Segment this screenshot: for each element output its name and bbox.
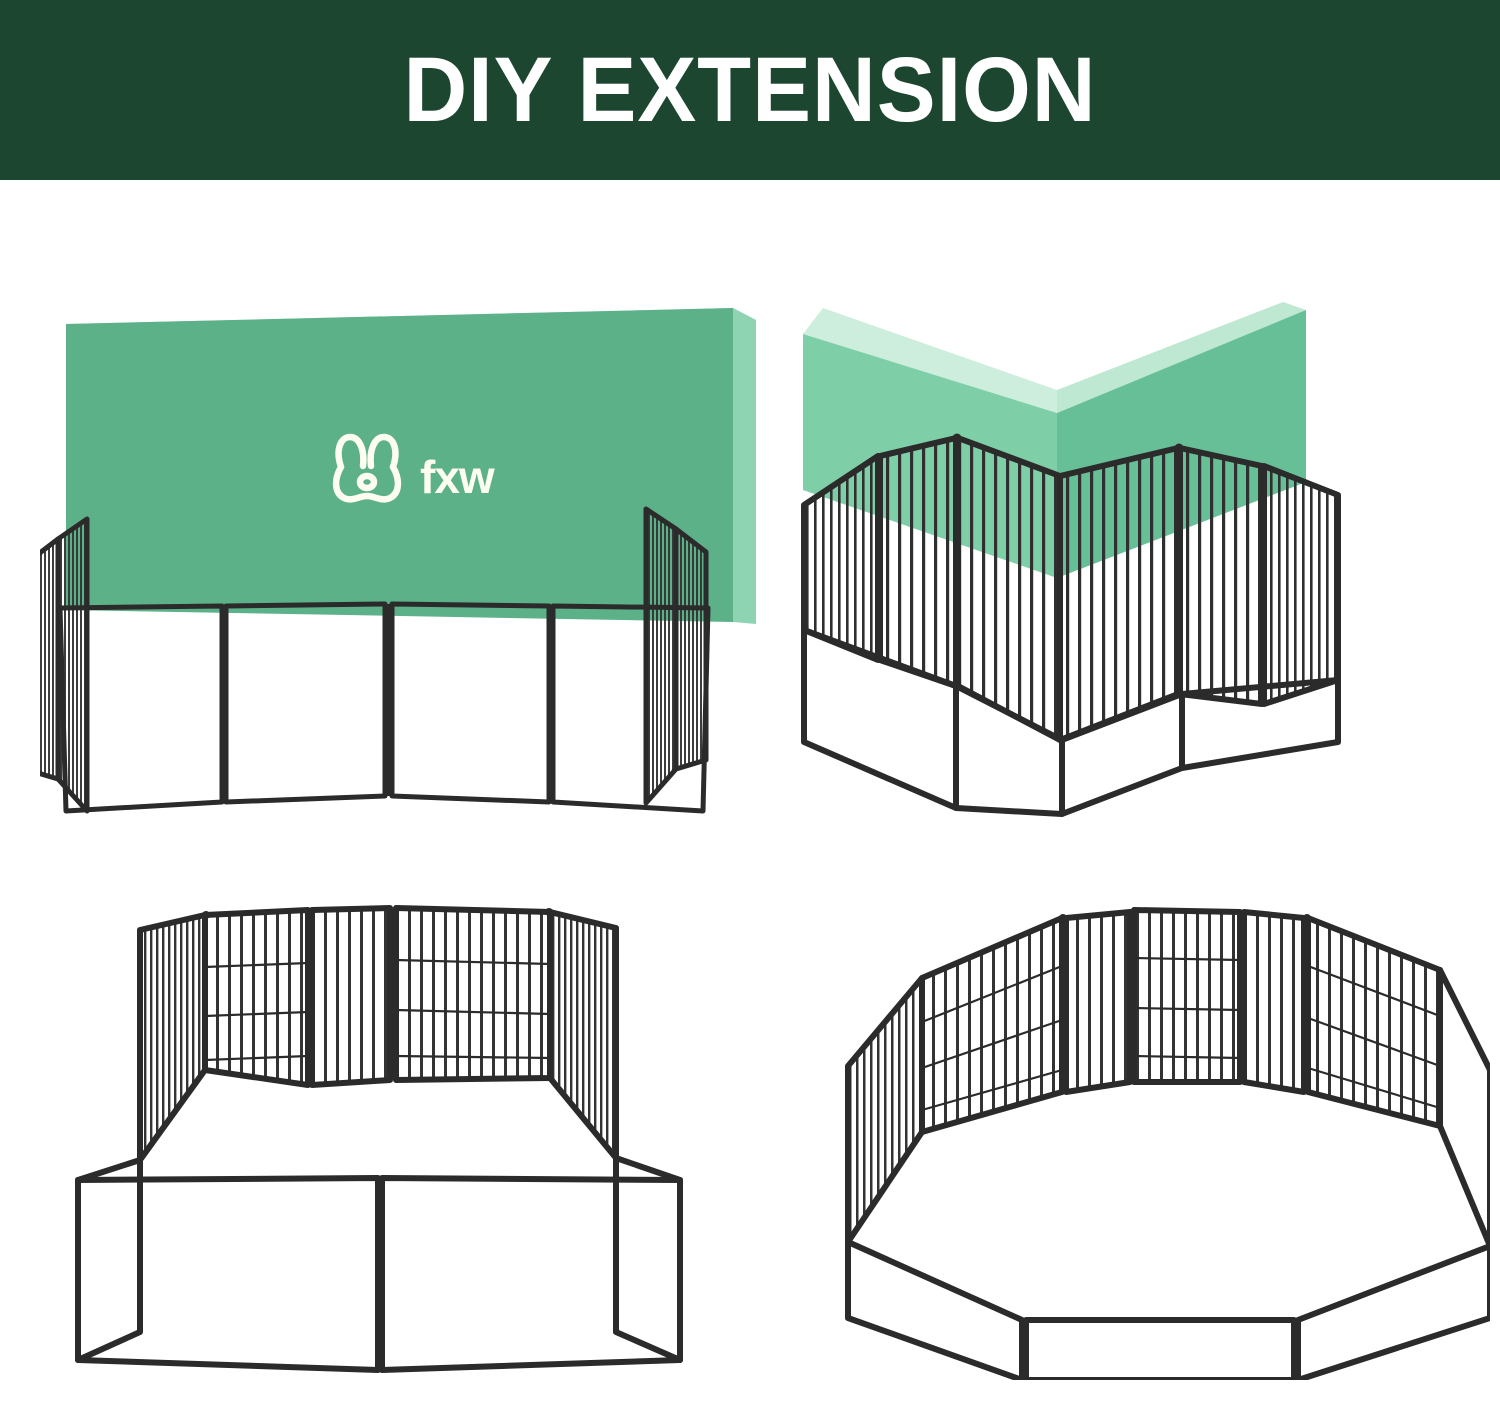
pen-oct-front-frames [848,1242,1490,1380]
pen-rect-side-panel-left [140,915,205,1160]
fence-hinge-connectors [224,604,551,802]
pen-oct-panel-right-side [1440,970,1490,1246]
pen-oct-panel-rear-center [1134,910,1240,1082]
page-title: DIY EXTENSION [403,44,1096,136]
figure-pen-rect [60,870,760,1380]
figure-wall-straight: fxw [40,290,760,820]
pen-oct-panel-rear-left [922,918,1062,1132]
fence-panel-right-inner [676,529,706,769]
pen-oct-panel-left-side [848,978,922,1242]
brand-wordmark: fxw [420,451,495,503]
pen-oct-panel-rear-center-right [1244,912,1304,1092]
fence-panel-left-inner [40,539,58,779]
fence-front-panels [60,604,708,811]
fence-panel-right-front [1264,466,1338,704]
figure-wall-corner [790,290,1490,820]
pen-rect-rear-panel-1 [205,910,308,1085]
pen-rect-rear-panel-3 [396,908,550,1080]
pen-oct-panel-rear-center-left [1066,912,1130,1092]
fence-panel-right-rear [1180,448,1262,704]
illustration-grid: fxw [0,180,1500,1409]
fence-panel-back-right [1060,448,1178,740]
header-banner: DIY EXTENSION [0,0,1500,180]
figure-pen-octagon [800,870,1490,1380]
pen-oct-panel-rear-right [1308,918,1440,1126]
pen-rect-side-panel-right [550,912,616,1158]
pen-rect-rear-panel-2 [312,908,390,1085]
fence-panel-left-rear [880,438,956,686]
fence-panel-right-outer [646,509,676,803]
